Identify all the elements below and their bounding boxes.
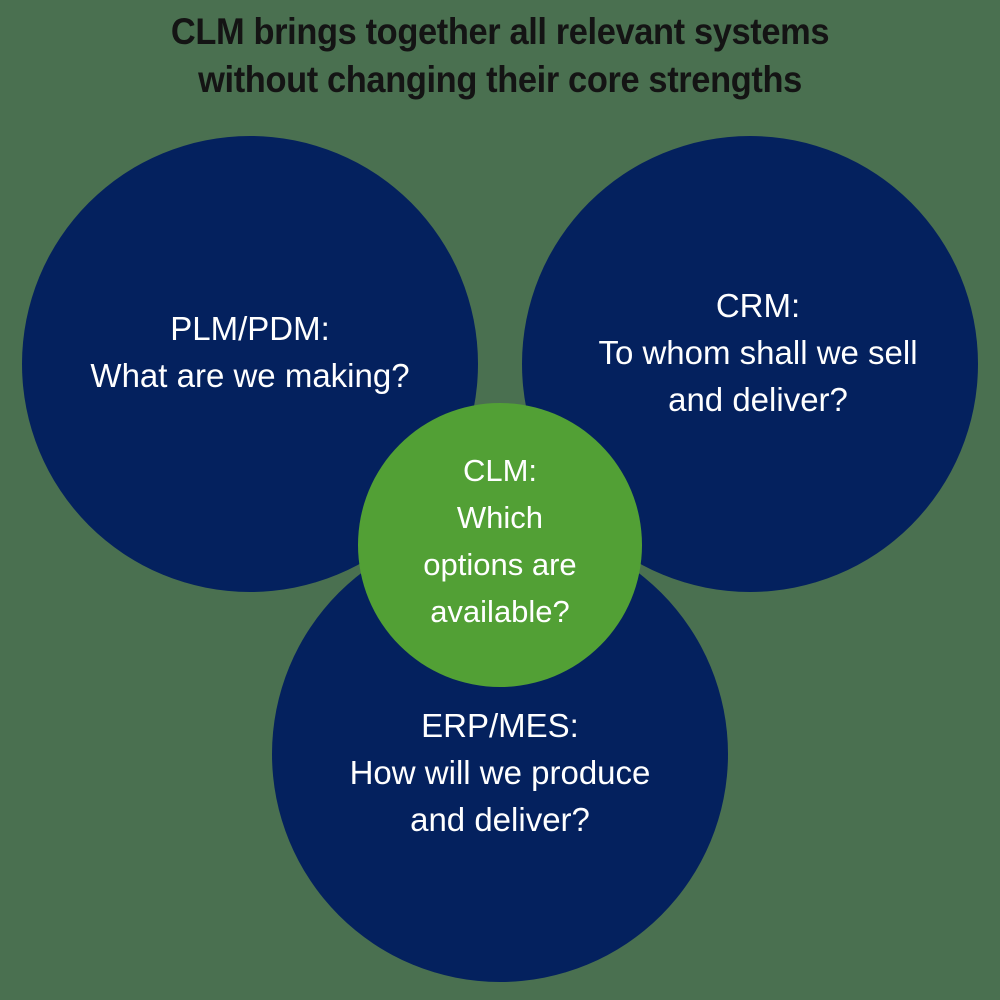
circle-clm-label: CLM: Which options are available? [423, 447, 576, 635]
diagram-canvas: CLM brings together all relevant systems… [0, 0, 1000, 1000]
circle-plm-pdm-label: PLM/PDM: What are we making? [90, 305, 409, 399]
circle-erp-mes-label: ERP/MES: How will we produce and deliver… [350, 702, 651, 843]
circle-clm[interactable]: CLM: Which options are available? [358, 403, 642, 687]
page-title: CLM brings together all relevant systems… [35, 8, 965, 104]
circle-crm-label: CRM: To whom shall we sell and deliver? [598, 282, 917, 423]
